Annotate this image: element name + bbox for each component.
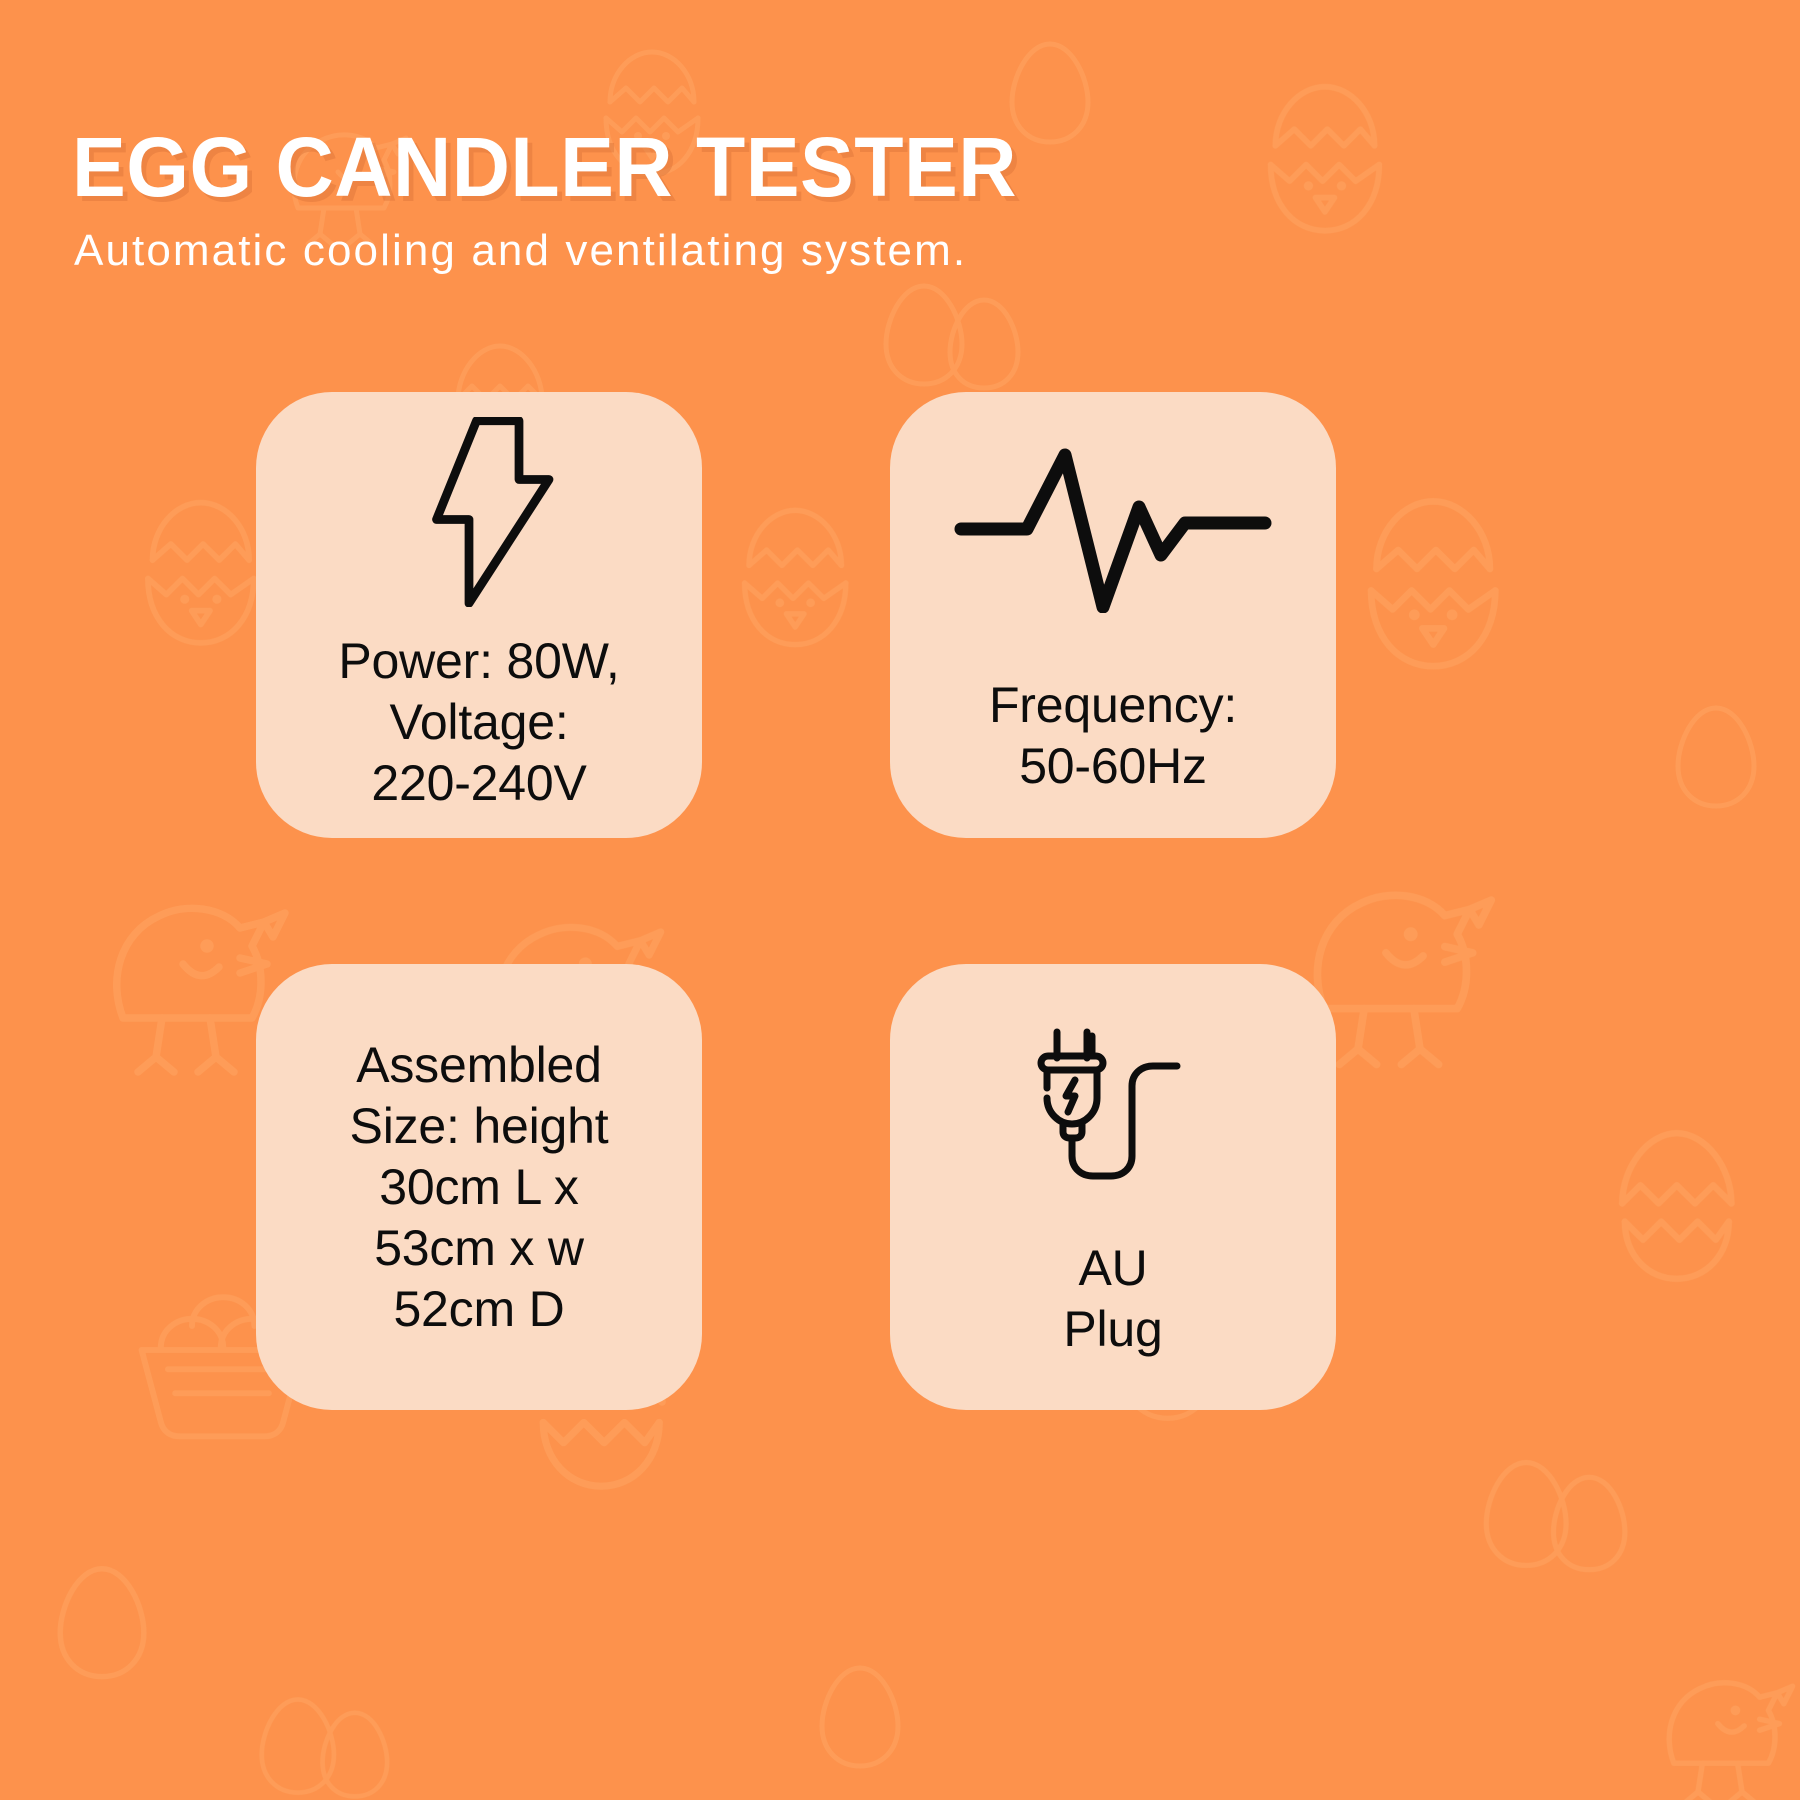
card-icon-wrap-frequency (908, 433, 1318, 613)
spec-card-power: Power: 80W, Voltage: 220-240V (256, 392, 702, 838)
card-icon-wrap-power (274, 417, 684, 607)
card-icon-wrap-plug (908, 1014, 1318, 1190)
spec-card-plug: AU Plug (890, 964, 1336, 1410)
spec-text-plug: AU Plug (1063, 1238, 1162, 1360)
spec-text-frequency: Frequency: 50-60Hz (989, 675, 1237, 797)
spec-card-frequency: Frequency: 50-60Hz (890, 392, 1336, 838)
pulse-wave-icon (953, 433, 1273, 613)
header: EGG CANDLER TESTER Automatic cooling and… (72, 128, 1372, 274)
spec-card-size: Assembled Size: height 30cm L x 53cm x w… (256, 964, 702, 1410)
spec-text-power: Power: 80W, Voltage: 220-240V (338, 631, 619, 814)
page-subtitle: Automatic cooling and ventilating system… (74, 228, 1372, 274)
spec-card-grid: Power: 80W, Voltage: 220-240V Frequency:… (256, 392, 1556, 1472)
lightning-bolt-icon (404, 417, 554, 607)
infographic-canvas: EGG CANDLER TESTER Automatic cooling and… (0, 0, 1800, 1800)
page-title: EGG CANDLER TESTER (72, 128, 1320, 208)
spec-text-size: Assembled Size: height 30cm L x 53cm x w… (350, 1035, 609, 1340)
power-plug-icon (1025, 1014, 1201, 1190)
